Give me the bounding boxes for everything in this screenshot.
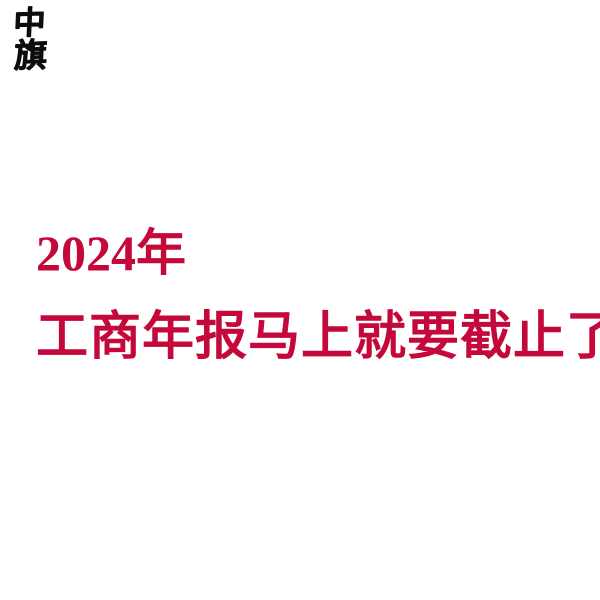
logo-glyph-qi: 旗 <box>13 39 48 71</box>
slide-canvas: 中 旗 2024年 工商年报马上就要截止了 <box>0 0 600 600</box>
headline-line-year: 2024年 <box>36 225 186 281</box>
banner-content: 2024年 工商年报马上就要截止了 <box>0 113 600 488</box>
blue-gradient-banner: 2024年 工商年报马上就要截止了 <box>0 113 600 488</box>
zhongqi-brush-logo[interactable]: 中 旗 <box>14 8 68 80</box>
footer-band <box>0 488 600 600</box>
header-band: 中 旗 <box>0 0 600 113</box>
headline-line-message: 工商年报马上就要截止了 <box>36 307 600 369</box>
